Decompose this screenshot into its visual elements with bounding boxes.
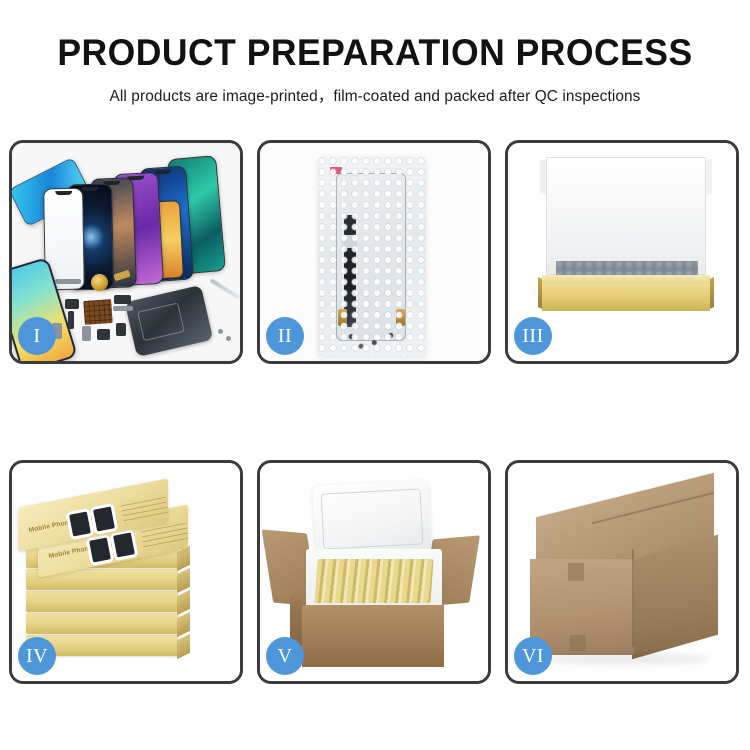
step-badge-5: V — [266, 637, 304, 675]
retail-box-stacked — [26, 613, 178, 634]
box-label-screen-image — [89, 537, 111, 562]
process-step-6[interactable]: VI — [505, 460, 739, 684]
small-part-speaker — [97, 329, 110, 340]
box-white-lid — [546, 157, 706, 275]
header: PRODUCT PREPARATION PROCESS All products… — [0, 0, 750, 106]
small-part-ribbon — [113, 306, 133, 311]
small-part-module — [114, 295, 131, 304]
tweezers-tool — [210, 278, 240, 299]
small-part-camera — [82, 326, 91, 341]
box-label-screen-image — [113, 532, 135, 557]
wireless-charging-coil — [91, 274, 108, 291]
step-badge-2: II — [266, 317, 304, 355]
screw-part — [226, 336, 231, 341]
carton-corner-seam — [632, 549, 634, 647]
page-title: PRODUCT PREPARATION PROCESS — [15, 34, 735, 73]
screw-part — [218, 329, 223, 334]
retail-box-stacked — [26, 591, 178, 612]
notch-icon — [81, 187, 98, 191]
step-badge-3: III — [514, 317, 552, 355]
small-part-bar — [55, 279, 81, 284]
carton-tab-upper — [568, 563, 584, 581]
step-badge-1: I — [18, 317, 56, 355]
foam-liner-lid — [312, 480, 432, 558]
box-label-screen-image — [93, 506, 115, 531]
small-part-connector — [65, 299, 79, 309]
notch-icon — [154, 170, 171, 175]
box-label-screen-image — [69, 511, 91, 536]
carton-front-panel — [302, 605, 444, 667]
carton-tab-lower — [570, 635, 586, 651]
step-badge-6: VI — [514, 637, 552, 675]
phone-back-housing — [125, 285, 214, 357]
process-step-2[interactable]: II — [257, 140, 491, 364]
notch-icon — [55, 191, 72, 195]
chip-array-part — [83, 299, 113, 325]
box-gold-front — [542, 283, 710, 311]
process-step-1[interactable]: I — [9, 140, 243, 364]
step-badge-4: IV — [18, 637, 56, 675]
bubble-wrap-bag — [318, 157, 426, 357]
bubble-texture — [318, 157, 426, 357]
carton-shadow — [542, 653, 710, 665]
process-step-4[interactable]: Mobile Phone Spare Parts Mobile Phone Sp… — [9, 460, 243, 684]
small-part-flex-cable — [68, 311, 74, 329]
product-preparation-infographic: PRODUCT PREPARATION PROCESS All products… — [0, 0, 750, 750]
process-step-grid: I II — [9, 140, 741, 685]
process-step-5[interactable]: V — [257, 460, 491, 684]
process-step-3[interactable]: III — [505, 140, 739, 364]
page-subtitle: All products are image-printed，film-coat… — [0, 84, 750, 106]
gold-boxes-inside-carton — [314, 559, 433, 603]
small-part-vibrator — [116, 323, 126, 336]
